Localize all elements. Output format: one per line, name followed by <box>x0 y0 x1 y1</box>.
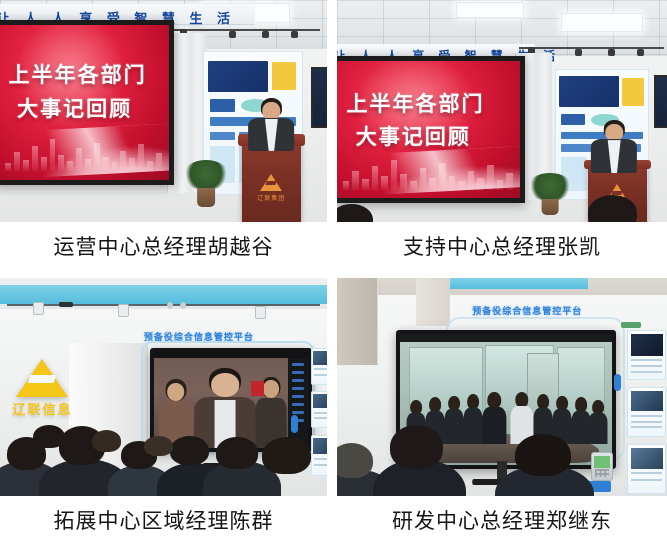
caption-bottom-right: 研发中心总经理郑继东 <box>337 496 667 533</box>
triangle-logo-icon <box>16 359 68 397</box>
track-light <box>229 31 236 38</box>
track-light <box>255 306 266 319</box>
ceiling-accent-band <box>0 285 327 305</box>
side-monitor <box>311 67 327 129</box>
led-title-line1: 上半年各部门 <box>9 59 147 89</box>
caption-top-left: 运营中心总经理胡越谷 <box>0 222 327 259</box>
audience-group <box>337 404 667 496</box>
podium-logo-text: 辽联集团 <box>257 193 285 202</box>
blue-accent-tab <box>614 374 621 391</box>
photo-bottom-left: 辽联信息 预备役综合信息管控平台 <box>0 278 327 496</box>
vc-background-poster <box>251 381 263 396</box>
side-monitor <box>654 75 667 128</box>
track-light <box>180 302 186 309</box>
exhibit-panel <box>627 330 665 380</box>
caption-bottom-left: 拓展中心区域经理陈群 <box>0 496 327 533</box>
speaker-person <box>591 120 637 173</box>
led-ribbon-graphic <box>0 123 174 180</box>
led-title-line2: 大事记回顾 <box>17 93 132 123</box>
track-rail <box>7 304 321 306</box>
caption-top-right: 支持中心总经理张凯 <box>337 222 667 259</box>
led-screen: 上半年各部门 大事记回顾 <box>337 56 525 204</box>
vc-toolbar <box>400 334 611 342</box>
track-light <box>291 31 298 38</box>
photo-cell-top-left: 让 人 人 享 受 智 慧 生 活 <box>0 0 327 259</box>
audience-group <box>0 404 327 496</box>
track-light <box>262 31 269 38</box>
photo-cell-top-right: 让 人 人 享 受 智 慧 生 活 <box>337 0 667 259</box>
photo-top-left: 让 人 人 享 受 智 慧 生 活 <box>0 0 327 222</box>
audience-head <box>588 195 638 222</box>
photo-cell-bottom-left: 辽联信息 预备役综合信息管控平台 <box>0 278 327 533</box>
ceiling-light-panel <box>561 13 642 32</box>
photo-grid: 让 人 人 享 受 智 慧 生 活 <box>0 0 667 546</box>
led-title-line1: 上半年各部门 <box>346 88 484 118</box>
ceiling-light-panel <box>456 2 524 17</box>
track-light <box>118 304 129 317</box>
wall-column <box>416 278 450 326</box>
photo-top-right: 让 人 人 享 受 智 慧 生 活 <box>337 0 667 222</box>
projector-box <box>59 302 73 307</box>
led-ribbon-graphic <box>337 146 525 198</box>
ceiling-accent-band <box>436 278 588 289</box>
podium: 辽联集团 <box>242 140 301 222</box>
photo-cell-bottom-right: 预备役综合信息管控平台 <box>337 278 667 533</box>
green-tag <box>621 322 641 329</box>
photo-grid-page: 让 人 人 享 受 智 慧 生 活 <box>0 0 667 546</box>
speaker-person <box>249 98 295 151</box>
track-light <box>167 302 173 309</box>
track-light <box>637 49 644 56</box>
led-title-line2: 大事记回顾 <box>356 121 471 151</box>
potted-plant <box>180 160 232 218</box>
track-light <box>33 302 44 315</box>
exhibit-panel <box>311 348 327 385</box>
podium-logo: 辽联集团 <box>257 174 285 202</box>
triangle-logo-icon <box>260 174 282 191</box>
potted-plant <box>525 173 575 222</box>
wall-column <box>337 278 378 365</box>
vc-toolbar <box>154 352 308 359</box>
wall-title: 预备役综合信息管控平台 <box>472 304 582 317</box>
track-light <box>608 49 615 56</box>
photo-bottom-right: 预备役综合信息管控平台 <box>337 278 667 496</box>
track-rail <box>170 29 320 31</box>
track-light <box>575 49 582 56</box>
led-screen: 上半年各部门 大事记回顾 <box>0 20 174 185</box>
